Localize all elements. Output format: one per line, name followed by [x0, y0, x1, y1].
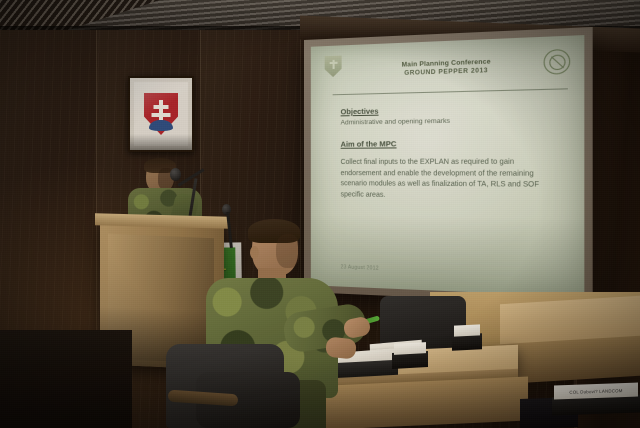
nameplate-holder-right: COL Dubovi? LANDCOM	[552, 394, 640, 415]
microphone-head-icon	[170, 168, 181, 181]
nameplate-card-1	[394, 342, 426, 355]
slide-header-text: Main Planning Conference GROUND PEPPER 2…	[333, 55, 568, 79]
seated-ear	[250, 246, 259, 259]
framed-coat-of-arms	[128, 76, 194, 152]
nameplate-right-text: COL Dubovi? LANDCOM	[569, 388, 622, 395]
slide-text-administrative: Administrative and opening remarks	[341, 116, 561, 129]
nameplate-holder-1	[392, 351, 428, 369]
slide-heading-aim: Aim of the MPC	[341, 137, 561, 148]
photo-scene: Main Planning Conference GROUND PEPPER 2…	[0, 0, 640, 428]
nameplate-holder-2	[452, 333, 482, 351]
slide-header: Main Planning Conference GROUND PEPPER 2…	[333, 51, 568, 95]
frame-bottom-shadow	[130, 134, 192, 150]
seated-hand-left	[325, 336, 357, 359]
slide-paragraph: Collect final inputs to the EXPLAN as re…	[341, 157, 561, 204]
nameplate-card-2	[454, 324, 480, 336]
slide-heading-objectives: Objectives	[341, 103, 561, 117]
foreground-dark-panel	[0, 330, 132, 428]
slide-body: Objectives Administrative and opening re…	[333, 89, 568, 204]
seated-face-shadow	[276, 234, 300, 268]
nameplate-card-right: COL Dubovi? LANDCOM	[554, 383, 638, 400]
